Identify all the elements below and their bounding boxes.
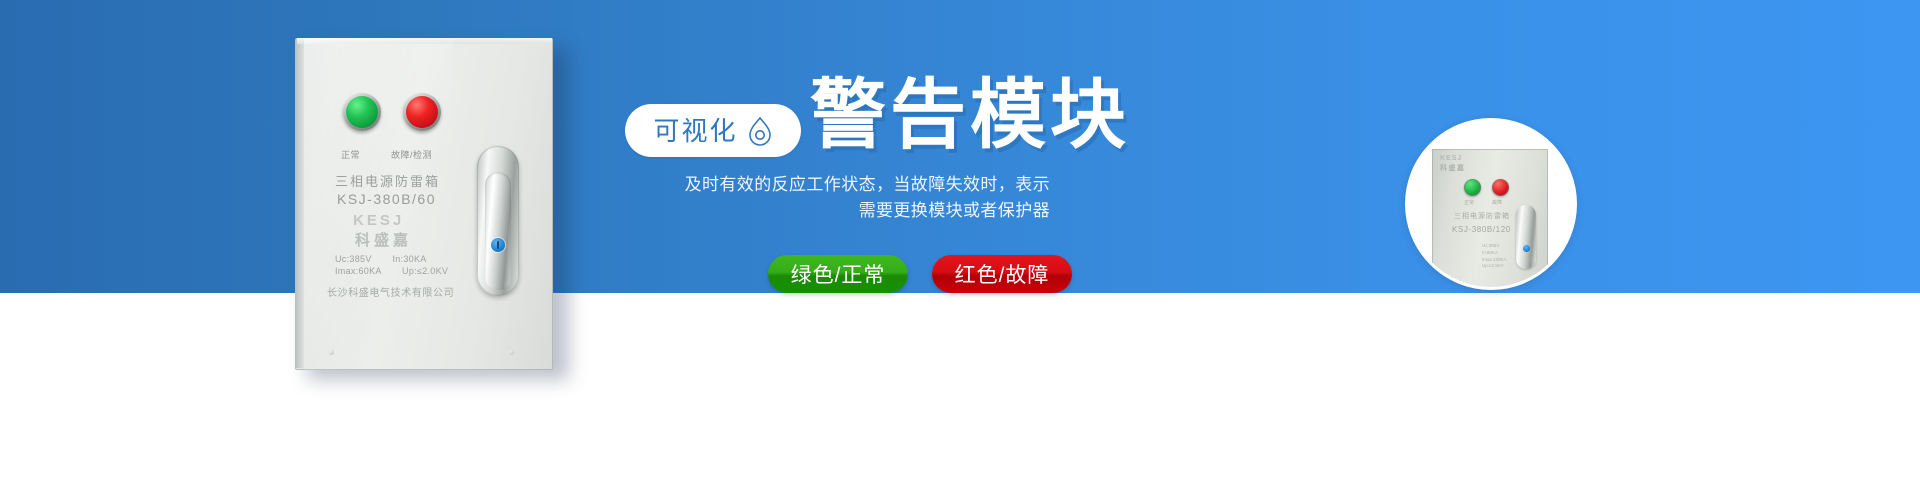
eye-outline-icon bbox=[747, 116, 773, 146]
lamp-dome-red bbox=[406, 96, 438, 128]
panel-company-name: 长沙科盛电气技术有限公司 bbox=[327, 284, 454, 299]
status-badge-normal: 绿色/正常 bbox=[768, 255, 908, 293]
inset-model-number: KSJ-380B/120 bbox=[1452, 225, 1511, 234]
promo-banner: 正常 故障/检测 三相电源防雷箱 KSJ-380B/60 KESJ 科盛嘉 Uc… bbox=[0, 0, 1920, 500]
banner-subtitle-line-1: 及时有效的反应工作状态，当故障失效时，表示 bbox=[600, 172, 1050, 198]
inset-brand-latin: KESJ bbox=[1440, 155, 1462, 162]
lamp-dome-green bbox=[346, 96, 378, 128]
panel-spec-line-1: Uc:385V In:30KA bbox=[335, 254, 427, 264]
spec-uc: Uc:385V bbox=[335, 254, 372, 264]
inset-brand-chinese: 科盛嘉 bbox=[1440, 163, 1466, 173]
handle-lock-icon bbox=[491, 238, 505, 252]
inset-enclosure-body: KESJ 科盛嘉 正常 故障 三相电源防雷箱 KSJ-380B/120 Uc:3… bbox=[1432, 149, 1548, 290]
banner-subtitle-line-2: 需要更换模块或者保护器 bbox=[600, 198, 1050, 224]
inset-product-name: 三相电源防雷箱 bbox=[1454, 211, 1510, 221]
inset-door-handle bbox=[1516, 205, 1536, 269]
panel-product-name: 三相电源防雷箱 bbox=[335, 171, 440, 190]
panel-screw bbox=[509, 350, 514, 355]
lamp-label-normal: 正常 bbox=[341, 148, 360, 161]
inset-lamp-label-fault: 故障 bbox=[1492, 199, 1502, 206]
banner-subtitle: 及时有效的反应工作状态，当故障失效时，表示 需要更换模块或者保护器 bbox=[600, 172, 1050, 225]
panel-brand-latin: KESJ bbox=[353, 212, 404, 229]
banner-white-background bbox=[0, 293, 1920, 500]
inset-indicator-lamp-red bbox=[1492, 179, 1509, 196]
handle-inner-grip bbox=[485, 172, 511, 290]
panel-brand-chinese: 科盛嘉 bbox=[355, 229, 412, 250]
indicator-lamp-green bbox=[343, 93, 381, 131]
enclosure-top-edge bbox=[297, 38, 552, 44]
status-badge-group: 绿色/正常 红色/故障 bbox=[768, 255, 1072, 293]
lamp-label-fault: 故障/检测 bbox=[391, 148, 432, 161]
inset-lamp-label-normal: 正常 bbox=[1464, 199, 1474, 206]
panel-screw bbox=[329, 350, 334, 355]
spec-up: Up:≤2.0KV bbox=[402, 266, 448, 276]
status-badge-fault: 红色/故障 bbox=[932, 255, 1072, 293]
indicator-lamp-red bbox=[403, 93, 441, 131]
enclosure-left-edge bbox=[295, 40, 304, 368]
spec-in: In:30KA bbox=[392, 254, 426, 264]
inset-handle-lock-icon bbox=[1523, 245, 1530, 252]
spec-imax: Imax:60KA bbox=[335, 266, 381, 276]
visualization-pill: 可视化 bbox=[625, 104, 801, 157]
cabinet-door-handle bbox=[477, 146, 519, 296]
banner-headline: 警告模块 bbox=[810, 78, 1130, 154]
panel-spec-line-2: Imax:60KA Up:≤2.0KV bbox=[335, 266, 448, 276]
visualization-pill-label: 可视化 bbox=[653, 118, 737, 144]
panel-model-number: KSJ-380B/60 bbox=[337, 191, 436, 207]
product-inset-circle: KESJ 科盛嘉 正常 故障 三相电源防雷箱 KSJ-380B/120 Uc:3… bbox=[1405, 118, 1577, 290]
product-enclosure-photo: 正常 故障/检测 三相电源防雷箱 KSJ-380B/60 KESJ 科盛嘉 Uc… bbox=[295, 38, 560, 373]
inset-indicator-lamp-green bbox=[1464, 179, 1481, 196]
enclosure-body: 正常 故障/检测 三相电源防雷箱 KSJ-380B/60 KESJ 科盛嘉 Uc… bbox=[295, 38, 553, 370]
inset-spec-block: Uc:385V In:60KA Imax:120KA Up:≤2.5KV bbox=[1482, 243, 1507, 270]
